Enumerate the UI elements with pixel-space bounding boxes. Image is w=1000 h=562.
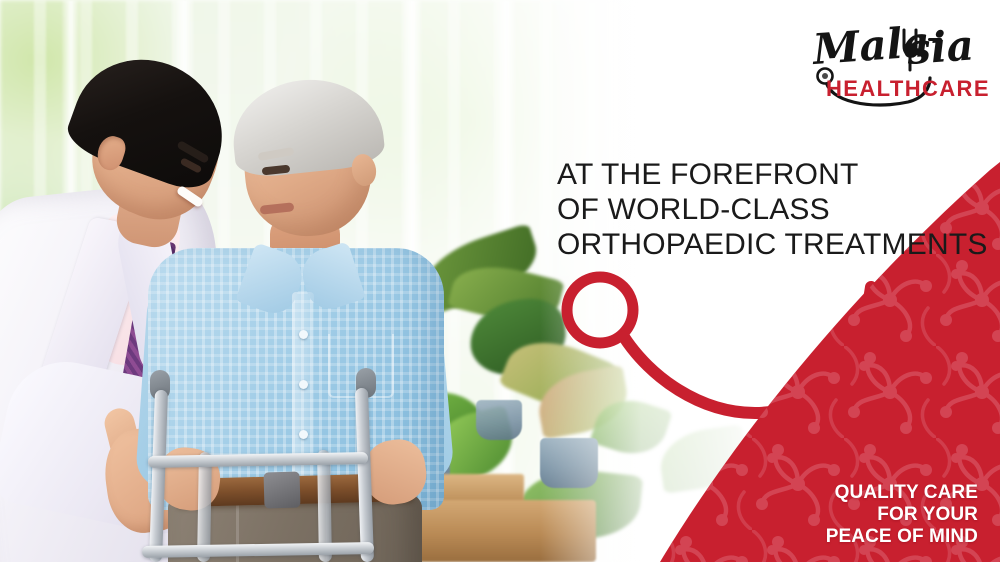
tagline-line-2: FOR YOUR — [826, 504, 978, 526]
stethoscope-swoosh — [540, 255, 900, 435]
healthcare-wordmark: HEALTHCARE — [826, 76, 990, 102]
headline-line-1: AT THE FOREFRONT — [557, 157, 988, 192]
walker-leg-left — [149, 390, 168, 562]
headline-line-3: ORTHOPAEDIC TREATMENTS — [557, 227, 988, 262]
walker-leg-right — [355, 388, 374, 562]
tagline-line-1: QUALITY CARE — [826, 482, 978, 504]
tagline: QUALITY CARE FOR YOUR PEACE OF MIND — [826, 482, 978, 548]
marketing-banner: AT THE FOREFRONT OF WORLD-CLASS ORTHOPAE… — [0, 0, 1000, 562]
malaysia-healthcare-logo: Mala sia HEALTHCARE — [812, 24, 984, 112]
tagline-line-3: PEACE OF MIND — [826, 526, 978, 548]
patient-shirt-button — [299, 330, 308, 339]
headline-line-2: OF WORLD-CLASS — [557, 192, 988, 227]
swoosh-tube-path — [624, 287, 871, 413]
page-title: AT THE FOREFRONT OF WORLD-CLASS ORTHOPAE… — [557, 157, 988, 262]
walking-frame — [132, 368, 414, 562]
walker-crossbar-lower — [142, 542, 374, 558]
walker-crossbar-upper — [148, 452, 368, 468]
